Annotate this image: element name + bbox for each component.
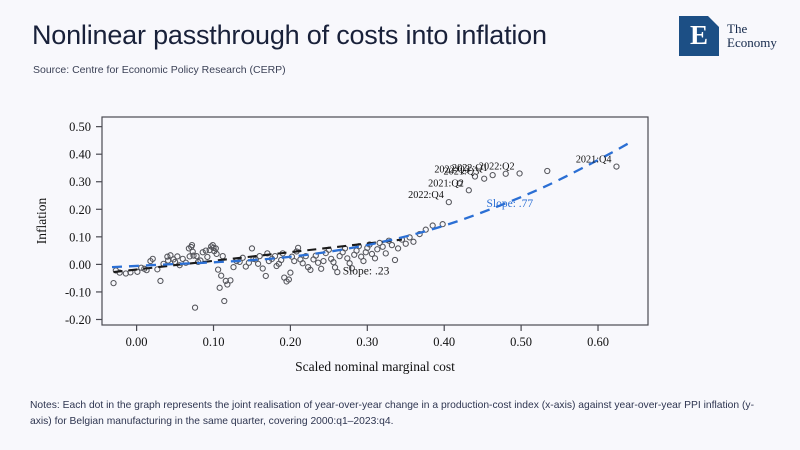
x-tick-label: 0.20 bbox=[279, 335, 301, 349]
data-point bbox=[158, 278, 163, 283]
logo-fold-corner bbox=[708, 16, 719, 27]
data-point bbox=[256, 261, 261, 266]
header: Nonlinear passthrough of costs into infl… bbox=[0, 0, 800, 92]
point-annotation: 2022:Q4 bbox=[408, 190, 444, 201]
data-point bbox=[389, 243, 394, 248]
data-point bbox=[411, 239, 416, 244]
y-tick-label: -0.20 bbox=[65, 313, 91, 327]
data-point bbox=[315, 260, 320, 265]
data-point bbox=[217, 285, 222, 290]
page-title: Nonlinear passthrough of costs into infl… bbox=[32, 20, 547, 51]
plot-frame bbox=[102, 117, 648, 325]
y-tick-label: 0.20 bbox=[69, 203, 91, 217]
data-point bbox=[139, 265, 144, 270]
data-point bbox=[220, 254, 225, 259]
data-point bbox=[321, 258, 326, 263]
x-axis-title: Scaled nominal marginal cost bbox=[295, 359, 455, 374]
data-point bbox=[466, 188, 471, 193]
data-point bbox=[372, 256, 377, 261]
data-point bbox=[345, 256, 350, 261]
data-point bbox=[482, 176, 487, 181]
x-tick-label: 0.50 bbox=[510, 335, 532, 349]
data-point bbox=[260, 266, 265, 271]
y-tick-labels: 0.500.400.300.200.100.00-0.10-0.20 bbox=[65, 120, 91, 327]
slope-nonlinear-label: Slope: .77 bbox=[487, 198, 534, 210]
data-point bbox=[517, 171, 522, 176]
data-point bbox=[361, 258, 366, 263]
data-point bbox=[395, 246, 400, 251]
data-point bbox=[292, 258, 297, 263]
data-point bbox=[383, 251, 388, 256]
slope-linear-label: Slope: .23 bbox=[343, 266, 390, 278]
x-tick-label: 0.40 bbox=[433, 335, 455, 349]
data-point bbox=[175, 254, 180, 259]
data-point bbox=[219, 273, 224, 278]
source-line: Source: Centre for Economic Policy Resea… bbox=[33, 64, 286, 76]
data-point bbox=[380, 244, 385, 249]
logo-wordmark-line1: The bbox=[727, 22, 777, 37]
point-annotation: 2022:Q2 bbox=[479, 161, 515, 172]
y-tick-label: 0.50 bbox=[69, 120, 91, 134]
data-points bbox=[111, 164, 619, 310]
data-point bbox=[111, 281, 116, 286]
data-point bbox=[392, 257, 397, 262]
data-point bbox=[490, 173, 495, 178]
x-tick-label: 0.60 bbox=[587, 335, 609, 349]
logo-wordmark-line2: Economy bbox=[727, 36, 777, 51]
data-point bbox=[192, 305, 197, 310]
x-tick-labels: 0.000.100.200.300.400.500.60 bbox=[126, 335, 609, 349]
point-annotation: 2021:Q2 bbox=[428, 178, 464, 189]
y-tick-label: -0.10 bbox=[65, 285, 91, 299]
data-point bbox=[403, 241, 408, 246]
brand-logo: E The Economy bbox=[679, 14, 783, 58]
footer-notes: Notes: Each dot in the graph represents … bbox=[30, 398, 775, 430]
y-axis-title: Inflation bbox=[34, 198, 49, 245]
y-tick-label: 0.00 bbox=[69, 258, 91, 272]
point-annotations: 2022:Q42021:Q22022:Q32021:Q32022:Q12022:… bbox=[408, 155, 611, 202]
y-tick-marks bbox=[96, 127, 102, 320]
logo-mark-icon: E bbox=[679, 16, 719, 56]
x-tick-label: 0.10 bbox=[203, 335, 225, 349]
data-point bbox=[446, 200, 451, 205]
data-point bbox=[335, 270, 340, 275]
data-point bbox=[216, 267, 221, 272]
data-point bbox=[545, 168, 550, 173]
data-point bbox=[614, 164, 619, 169]
x-tick-marks bbox=[137, 325, 598, 331]
data-point bbox=[231, 265, 236, 270]
y-tick-label: 0.30 bbox=[69, 175, 91, 189]
point-annotation: 2021:Q4 bbox=[576, 155, 612, 166]
data-point bbox=[375, 247, 380, 252]
data-point bbox=[430, 223, 435, 228]
data-point bbox=[288, 270, 293, 275]
logo-wordmark: The Economy bbox=[727, 22, 777, 51]
data-point bbox=[205, 254, 210, 259]
data-point bbox=[319, 266, 324, 271]
data-point bbox=[257, 254, 262, 259]
x-tick-label: 0.00 bbox=[126, 335, 148, 349]
data-point bbox=[263, 273, 268, 278]
scatter-chart: 0.500.400.300.200.100.00-0.10-0.20 0.000… bbox=[28, 98, 668, 378]
chart-container: 0.500.400.300.200.100.00-0.10-0.20 0.000… bbox=[28, 98, 668, 378]
data-point bbox=[222, 298, 227, 303]
y-tick-label: 0.40 bbox=[69, 148, 91, 162]
y-tick-label: 0.10 bbox=[69, 230, 91, 244]
x-tick-label: 0.30 bbox=[356, 335, 378, 349]
data-point bbox=[249, 246, 254, 251]
